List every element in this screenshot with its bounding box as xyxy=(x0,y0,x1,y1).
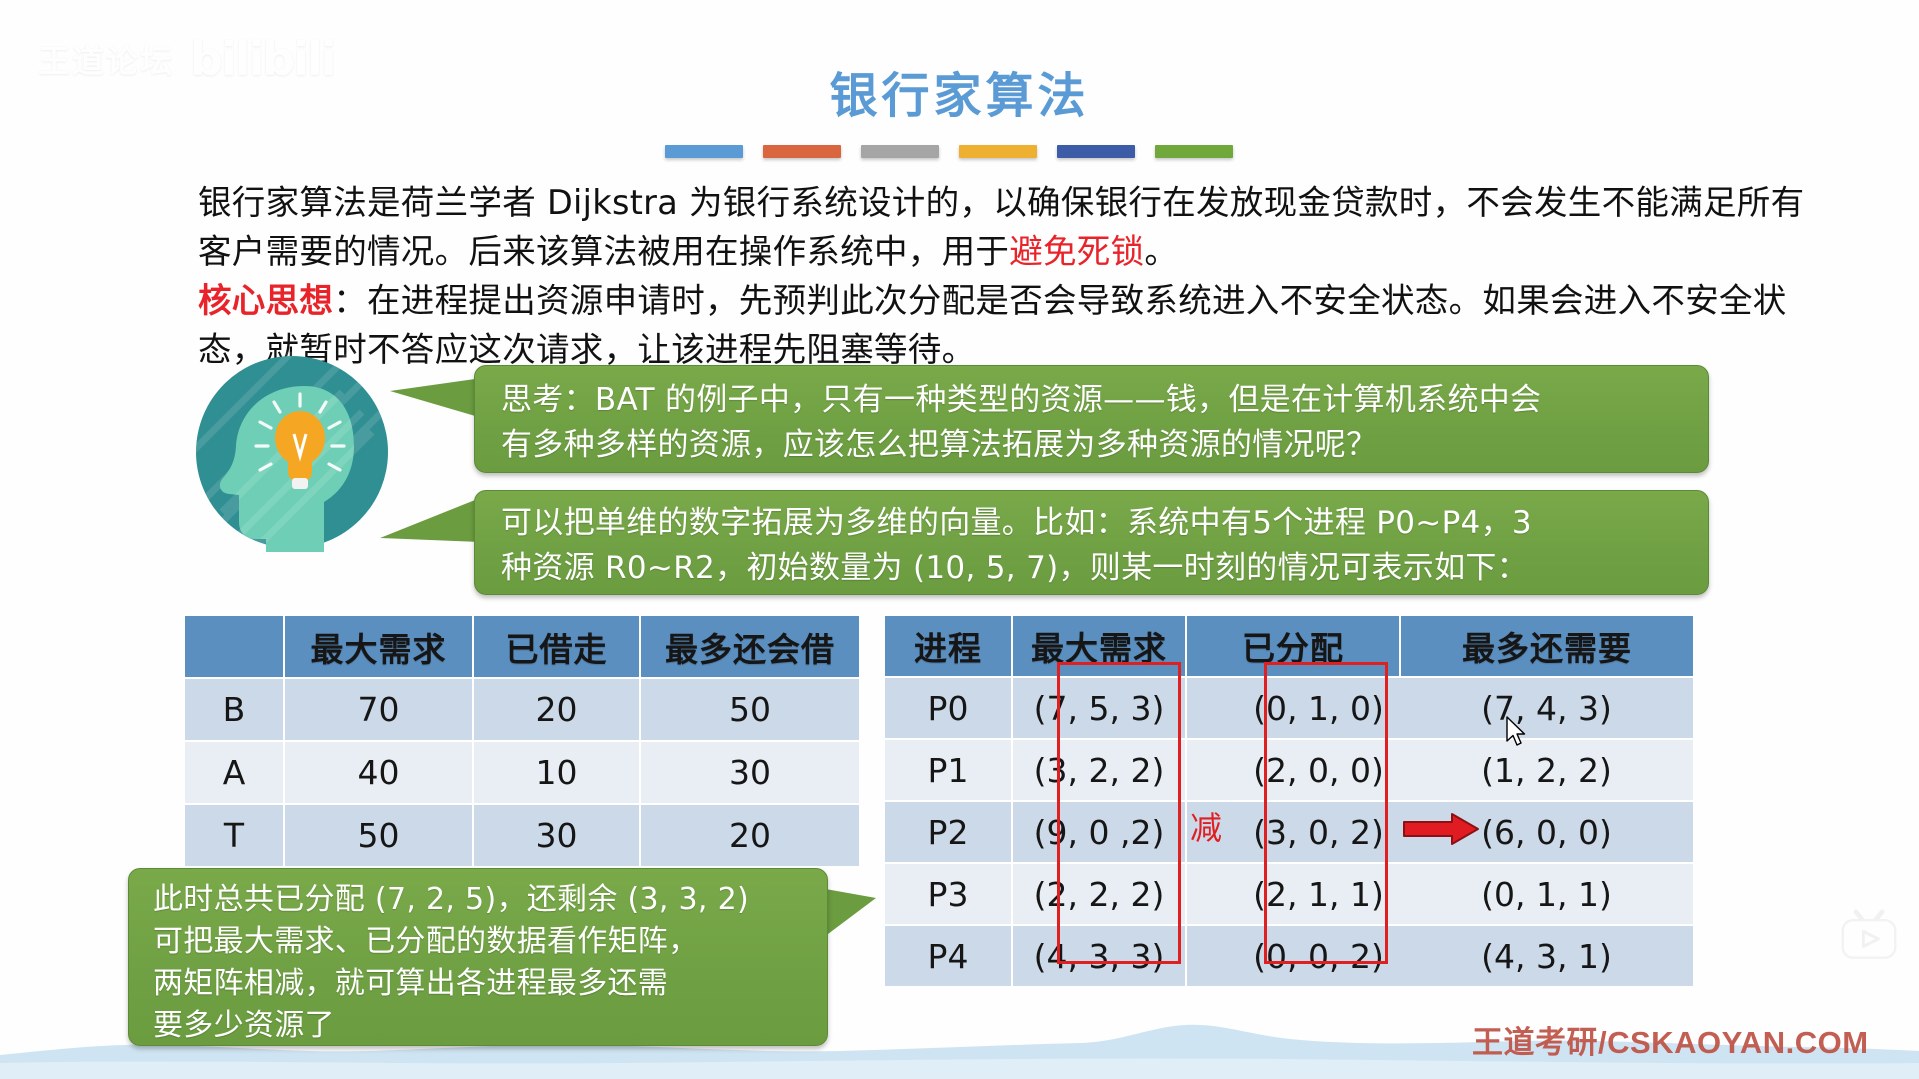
callout-question-line1: 思考：BAT 的例子中，只有一种类型的资源——钱，但是在计算机系统中会 xyxy=(501,378,1688,423)
th-bat-name xyxy=(185,616,284,678)
callout-summary-line1: 此时总共已分配 (7, 2, 5)，还剩余 (3, 3, 2) xyxy=(153,879,809,921)
mouse-pointer-icon xyxy=(1505,716,1527,748)
table-row: B 70 20 50 xyxy=(185,678,859,741)
paragraph-core-idea: 核心思想：在进程提出资源申请时，先预判此次分配是否会导致系统进入不安全状态。如果… xyxy=(198,276,1818,374)
paragraph-intro-highlight: 避免死锁 xyxy=(1009,232,1144,271)
cell-max: (2, 2, 2) xyxy=(1012,863,1186,925)
cell-process: P2 xyxy=(885,801,1012,863)
table-process-resources: 进程 最大需求 已分配 最多还需要 P0 (7, 5, 3) (0, 1, 0)… xyxy=(885,616,1693,986)
cell-need: (0, 1, 1) xyxy=(1400,863,1693,925)
head-lightbulb-idea-icon xyxy=(192,352,392,552)
slide-canvas: 王道论坛 bilibili 王道考研/CSKAOYAN.COM 银行家算法 银行… xyxy=(0,0,1919,1079)
minus-operator-label: 减 xyxy=(1190,803,1222,849)
th-max-demand: 最大需求 xyxy=(1012,616,1186,677)
accent-bar-1 xyxy=(665,145,743,158)
title-accent-bars xyxy=(665,145,1233,158)
cell-bat-remain: 20 xyxy=(640,804,859,866)
cell-need: (7, 4, 3) xyxy=(1400,677,1693,739)
table-row: P1 (3, 2, 2) (2, 0, 0) (1, 2, 2) xyxy=(885,739,1693,801)
table-bat-example: 最大需求 已借走 最多还会借 B 70 20 50 A 40 10 30 T 5… xyxy=(185,616,859,866)
cell-alloc: (3, 0, 2) xyxy=(1237,801,1400,863)
cell-alloc: (2, 0, 0) xyxy=(1237,739,1400,801)
cell-spacer xyxy=(1186,863,1237,925)
th-bat-borrowed: 已借走 xyxy=(473,616,640,678)
table-row: T 50 30 20 xyxy=(185,804,859,866)
core-idea-label: 核心思想 xyxy=(198,281,333,320)
cell-bat-borrowed: 10 xyxy=(473,741,640,804)
body-paragraphs: 银行家算法是荷兰学者 Dijkstra 为银行系统设计的，以确保银行在发放现金贷… xyxy=(198,178,1818,374)
cell-max: (7, 5, 3) xyxy=(1012,677,1186,739)
th-bat-max: 最大需求 xyxy=(284,616,473,678)
callout-question-tail xyxy=(390,378,482,418)
callout-summary-line3: 两矩阵相减，就可算出各进程最多还需 xyxy=(153,963,809,1005)
table-process-header-row: 进程 最大需求 已分配 最多还需要 xyxy=(885,616,1693,677)
cell-bat-max: 70 xyxy=(284,678,473,741)
callout-question: 思考：BAT 的例子中，只有一种类型的资源——钱，但是在计算机系统中会 有多种多… xyxy=(474,365,1709,473)
cell-max: (3, 2, 2) xyxy=(1012,739,1186,801)
table-row: A 40 10 30 xyxy=(185,741,859,804)
cell-spacer xyxy=(1186,677,1237,739)
callout-answer-tail xyxy=(380,498,480,542)
cell-alloc: (0, 0, 2) xyxy=(1237,925,1400,986)
cell-bat-max: 50 xyxy=(284,804,473,866)
accent-bar-4 xyxy=(959,145,1037,158)
cell-process: P4 xyxy=(885,925,1012,986)
th-bat-remain: 最多还会借 xyxy=(640,616,859,678)
th-process: 进程 xyxy=(885,616,1012,677)
accent-bar-2 xyxy=(763,145,841,158)
table-bat-header-row: 最大需求 已借走 最多还会借 xyxy=(185,616,859,678)
cell-need: (4, 3, 1) xyxy=(1400,925,1693,986)
watermark-site-url: 王道考研/CSKAOYAN.COM xyxy=(1472,1017,1869,1062)
table-row: P0 (7, 5, 3) (0, 1, 0) (7, 4, 3) xyxy=(885,677,1693,739)
cell-alloc: (2, 1, 1) xyxy=(1237,863,1400,925)
callout-question-line2: 有多种多样的资源，应该怎么把算法拓展为多种资源的情况呢？ xyxy=(501,423,1688,468)
paragraph-intro-part2: 。 xyxy=(1144,232,1178,271)
cell-bat-name: T xyxy=(185,804,284,866)
table-row: P4 (4, 3, 3) (0, 0, 2) (4, 3, 1) xyxy=(885,925,1693,986)
cell-bat-name: A xyxy=(185,741,284,804)
cell-process: P1 xyxy=(885,739,1012,801)
table-row: P2 (9, 0 ,2) (3, 0, 2) (6, 0, 0) xyxy=(885,801,1693,863)
accent-bar-3 xyxy=(861,145,939,158)
callout-answer: 可以把单维的数字拓展为多维的向量。比如：系统中有5个进程 P0~P4，3 种资源… xyxy=(474,490,1709,595)
accent-bar-6 xyxy=(1155,145,1233,158)
red-right-arrow-icon xyxy=(1402,812,1480,846)
table-row: P3 (2, 2, 2) (2, 1, 1) (0, 1, 1) xyxy=(885,863,1693,925)
cell-bat-borrowed: 30 xyxy=(473,804,640,866)
callout-summary-tail xyxy=(820,888,876,940)
cell-bat-name: B xyxy=(185,678,284,741)
callout-summary-line4: 要多少资源了 xyxy=(153,1005,809,1047)
th-allocated: 已分配 xyxy=(1186,616,1400,677)
cell-process: P3 xyxy=(885,863,1012,925)
bilibili-tv-play-icon xyxy=(1838,908,1900,968)
cell-need: (1, 2, 2) xyxy=(1400,739,1693,801)
cell-bat-remain: 50 xyxy=(640,678,859,741)
cell-process: P0 xyxy=(885,677,1012,739)
callout-answer-line1: 可以把单维的数字拓展为多维的向量。比如：系统中有5个进程 P0~P4，3 xyxy=(501,501,1688,546)
th-still-need: 最多还需要 xyxy=(1400,616,1693,677)
callout-answer-line2: 种资源 R0~R2，初始数量为 (10, 5, 7)，则某一时刻的情况可表示如下… xyxy=(501,546,1688,591)
accent-bar-5 xyxy=(1057,145,1135,158)
cell-bat-borrowed: 20 xyxy=(473,678,640,741)
paragraph-intro: 银行家算法是荷兰学者 Dijkstra 为银行系统设计的，以确保银行在发放现金贷… xyxy=(198,178,1818,276)
cell-alloc: (0, 1, 0) xyxy=(1237,677,1400,739)
cell-spacer xyxy=(1186,925,1237,986)
cell-spacer xyxy=(1186,739,1237,801)
core-idea-text: ：在进程提出资源申请时，先预判此次分配是否会导致系统进入不安全状态。如果会进入不… xyxy=(198,281,1787,369)
page-title: 银行家算法 xyxy=(0,56,1919,126)
cell-max: (9, 0 ,2) xyxy=(1012,801,1186,863)
callout-summary-line2: 可把最大需求、已分配的数据看作矩阵， xyxy=(153,921,809,963)
cell-bat-remain: 30 xyxy=(640,741,859,804)
paragraph-intro-part1: 银行家算法是荷兰学者 Dijkstra 为银行系统设计的，以确保银行在发放现金贷… xyxy=(198,183,1804,271)
cell-bat-max: 40 xyxy=(284,741,473,804)
cell-max: (4, 3, 3) xyxy=(1012,925,1186,986)
callout-summary: 此时总共已分配 (7, 2, 5)，还剩余 (3, 3, 2) 可把最大需求、已… xyxy=(128,868,828,1046)
